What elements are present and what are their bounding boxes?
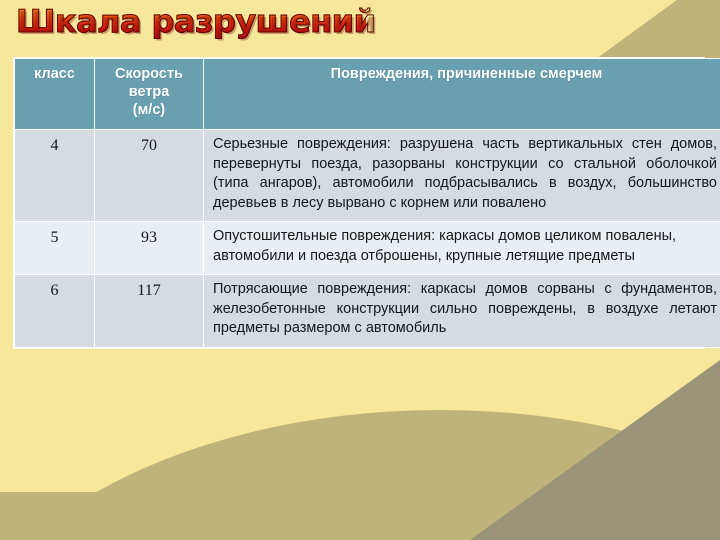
table-header: класс Скорость ветра (м/с) Повреждения, … [15,59,720,130]
cell-class: 4 [15,130,95,222]
column-header-wind-speed-line3: (м/с) [99,101,199,119]
table-row: 4 70 Серьезные повреждения: разрушена ча… [15,130,720,222]
column-header-wind-speed: Скорость ветра (м/с) [95,59,204,130]
cell-class: 5 [15,222,95,275]
decorative-shape-bottom-right [470,360,720,540]
slide-canvas: Шкала разрушений класс Скорость ветра (м… [0,0,720,540]
decorative-shape-bottom-band [0,492,720,540]
column-header-damage: Повреждения, причиненные смерчем [204,59,720,130]
slide-title-container: Шкала разрушений [16,2,356,46]
table-header-row: класс Скорость ветра (м/с) Повреждения, … [15,59,720,130]
damage-scale-table: класс Скорость ветра (м/с) Повреждения, … [14,58,720,348]
decorative-shape-bottom-curve [0,410,720,540]
cell-wind-speed: 117 [95,275,204,348]
table-body: 4 70 Серьезные повреждения: разрушена ча… [15,130,720,348]
cell-damage-description: Потрясающие повреждения: каркасы домов с… [204,275,720,348]
column-header-wind-speed-line2: ветра [99,83,199,101]
damage-scale-table-container: класс Скорость ветра (м/с) Повреждения, … [14,58,704,348]
cell-damage-description: Серьезные повреждения: разрушена часть в… [204,130,720,222]
slide-title: Шкала разрушений [16,2,366,42]
cell-wind-speed: 93 [95,222,204,275]
cell-damage-description: Опустошительные повреждения: каркасы дом… [204,222,720,275]
column-header-class: класс [15,59,95,130]
table-row: 5 93 Опустошительные повреждения: каркас… [15,222,720,275]
column-header-wind-speed-line1: Скорость [99,65,199,83]
table-row: 6 117 Потрясающие повреждения: каркасы д… [15,275,720,348]
cell-wind-speed: 70 [95,130,204,222]
cell-class: 6 [15,275,95,348]
